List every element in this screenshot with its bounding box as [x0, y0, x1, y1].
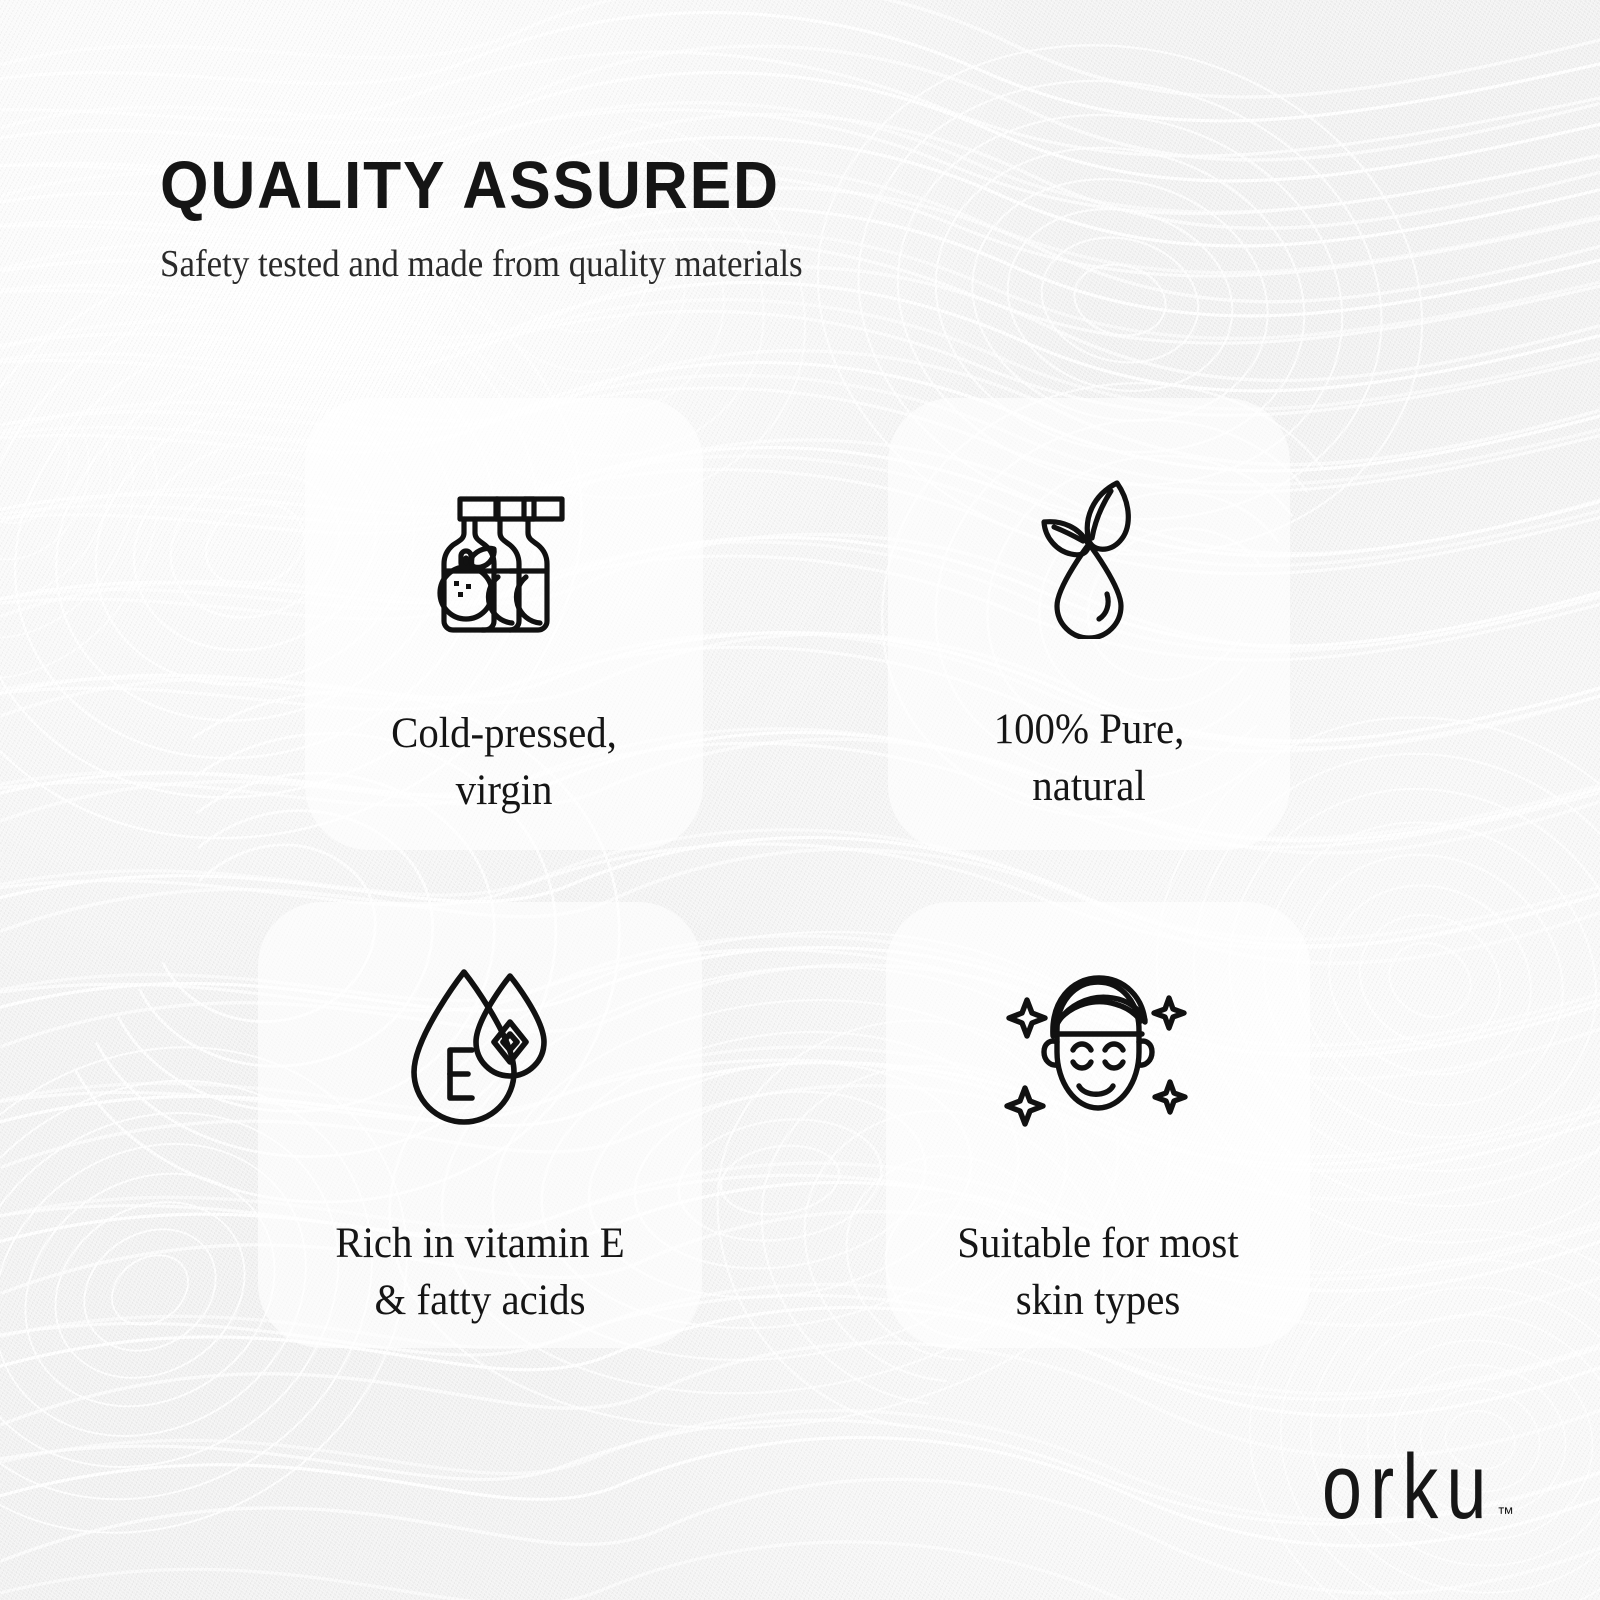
feature-label-skin-types: Suitable for most skin types: [897, 1216, 1300, 1330]
feature-label-cold-pressed: Cold-pressed, virgin: [315, 706, 693, 820]
leaf-droplet-icon: [888, 460, 1290, 650]
face-sparkle-icon: [886, 950, 1310, 1150]
feature-label-vitamin-e: Rich in vitamin E & fatty acids: [269, 1216, 691, 1330]
feature-label-pure-natural: 100% Pure, natural: [898, 702, 1280, 816]
feature-card-cold-pressed: Cold-pressed, virgin: [305, 398, 703, 850]
brand-logo: orku ™: [1307, 1456, 1514, 1530]
feature-card-vitamin-e: Rich in vitamin E & fatty acids: [258, 902, 702, 1348]
vitamin-e-droplet-icon: [258, 950, 702, 1150]
page-title: QUALITY ASSURED: [160, 152, 1183, 219]
feature-card-pure-natural: 100% Pure, natural: [888, 398, 1290, 850]
brand-wordmark: orku: [1322, 1443, 1495, 1530]
jars-with-fruit-icon: [305, 470, 703, 660]
header: QUALITY ASSURED Safety tested and made f…: [160, 152, 1260, 283]
feature-card-skin-types: Suitable for most skin types: [886, 902, 1310, 1348]
trademark-symbol: ™: [1497, 1504, 1514, 1524]
page-subtitle: Safety tested and made from quality mate…: [160, 219, 1172, 283]
quality-assured-infographic: QUALITY ASSURED Safety tested and made f…: [0, 0, 1600, 1600]
